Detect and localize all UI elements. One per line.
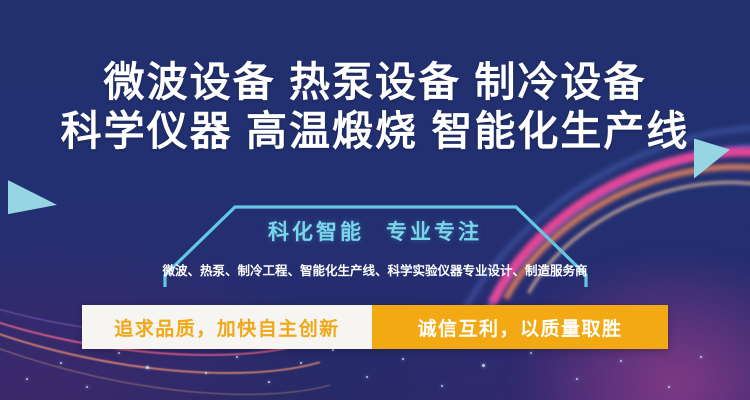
headline-line-1: 微波设备 热泵设备 制冷设备 — [0, 58, 750, 107]
sub-heading-right: 专业专注 — [386, 221, 482, 244]
slogan-right: 诚信互利，以质量取胜 — [372, 305, 668, 349]
slogan-left: 追求品质，加快自主创新 — [82, 305, 372, 349]
sub-description: 微波、热泵、制冷工程、智能化生产线、科学实验仪器专业设计、制造服务商 — [0, 262, 750, 280]
headline-line-2: 科学仪器 高温煅烧 智能化生产线 — [0, 107, 750, 156]
headline-block: 微波设备 热泵设备 制冷设备 科学仪器 高温煅烧 智能化生产线 — [0, 58, 750, 156]
sub-heading-block: 科化智能专业专注 — [0, 219, 750, 247]
promotional-banner: 微波设备 热泵设备 制冷设备 科学仪器 高温煅烧 智能化生产线 科化智能专业专注… — [0, 0, 750, 400]
slogan-bar: 追求品质，加快自主创新 诚信互利，以质量取胜 — [82, 305, 668, 349]
left-arrow-icon — [8, 180, 57, 222]
sub-heading-left: 科化智能 — [268, 221, 364, 244]
